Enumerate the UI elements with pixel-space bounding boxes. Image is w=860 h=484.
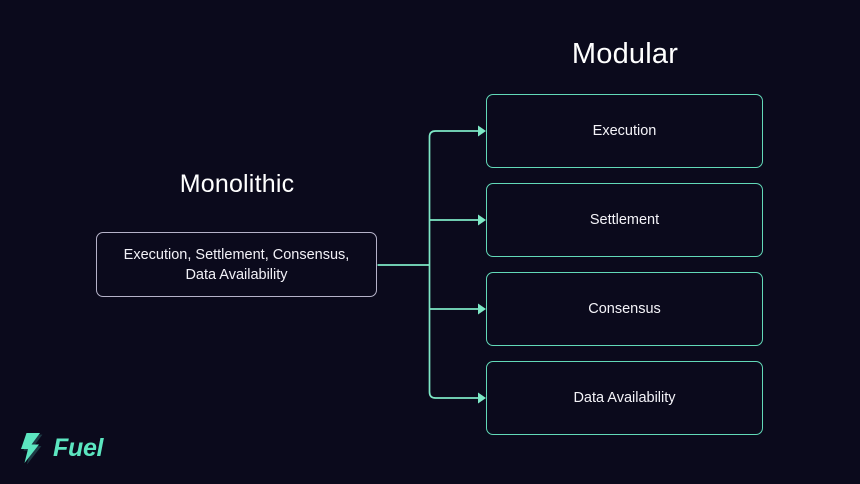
arrowhead-2 [478,304,486,315]
modular-box-label: Consensus [588,299,661,319]
arrowhead-1 [478,215,486,226]
modular-box-label: Data Availability [573,388,675,408]
monolithic-box-label: Execution, Settlement, Consensus, Data A… [97,245,376,285]
modular-title: Modular [465,37,785,71]
connector-trunk-top-elbow [430,131,436,137]
slide-canvas: Modular Monolithic Execution, Settlement… [0,0,860,484]
fuel-logo: Fuel [18,432,103,464]
modular-box-consensus: Consensus [486,272,763,346]
modular-box-execution: Execution [486,94,763,168]
lightning-bolt-icon [18,432,44,464]
modular-box-label: Execution [593,121,657,141]
modular-box-label: Settlement [590,210,659,230]
arrowhead-0 [478,126,486,137]
connector-trunk-bottom-elbow [430,392,436,398]
modular-box-data-availability: Data Availability [486,361,763,435]
fuel-logo-text: Fuel [53,434,103,462]
monolithic-box: Execution, Settlement, Consensus, Data A… [96,232,377,297]
arrowhead-3 [478,393,486,404]
modular-box-settlement: Settlement [486,183,763,257]
monolithic-title: Monolithic [77,169,397,199]
